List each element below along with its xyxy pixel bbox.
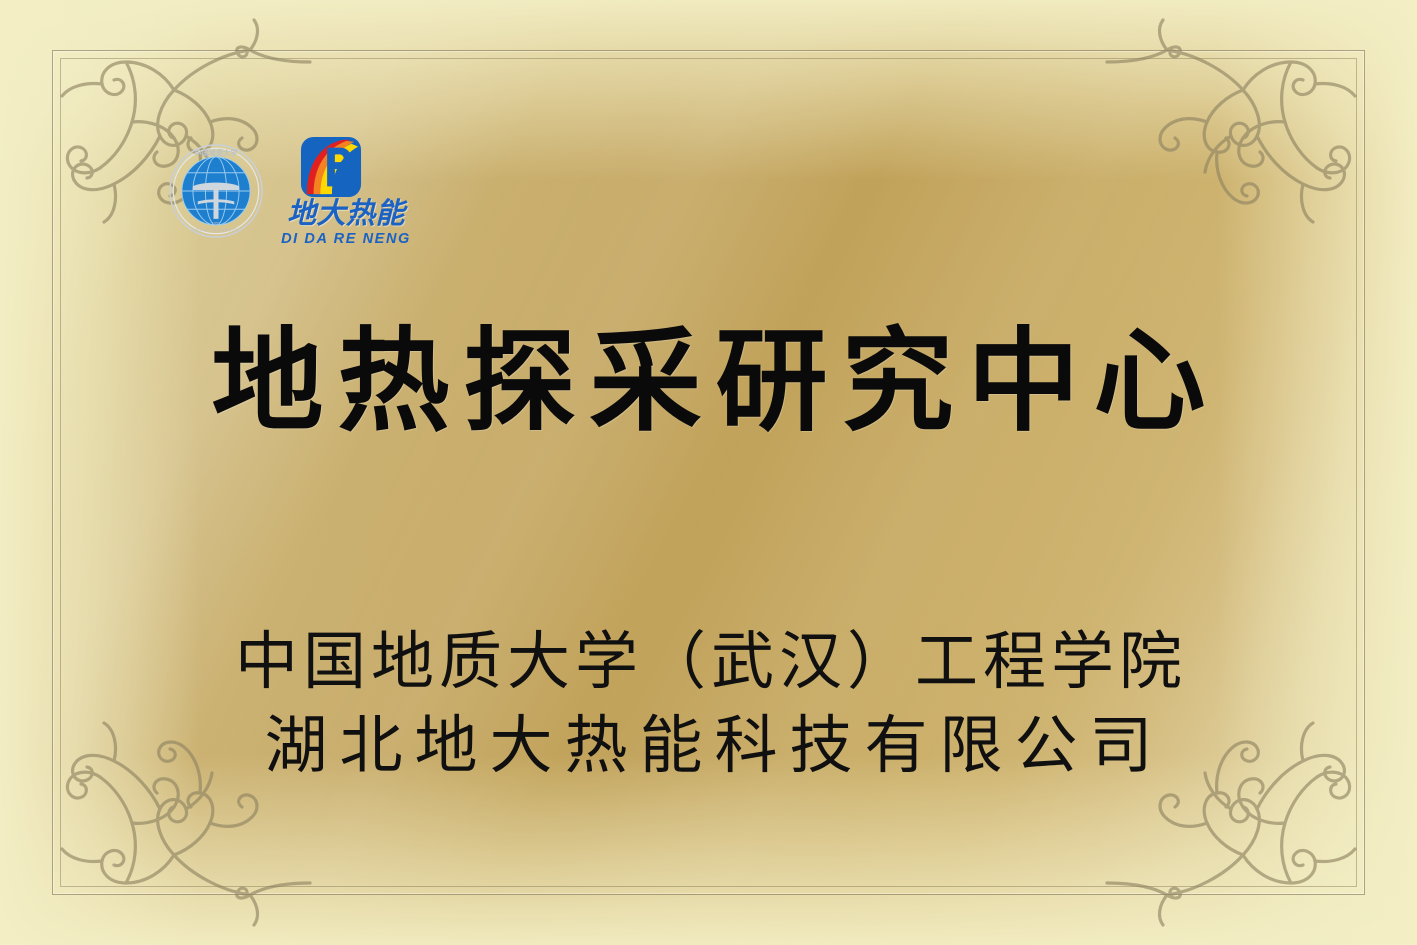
- subtitle-line-2: 湖北地大热能科技有限公司: [0, 704, 1417, 788]
- company-name-cn: 地大热能: [287, 200, 405, 229]
- plaque-subtitle: 中国地质大学（武汉）工程学院 湖北地大热能科技有限公司: [0, 620, 1417, 788]
- logo-row: 中国地质大学 CHINA UNIVERSITY 1952 地大热能 DI DA …: [168, 136, 414, 247]
- company-name-en: DI DA RE NENG: [281, 232, 411, 247]
- corner-ornament-top-right: [1103, 4, 1403, 224]
- company-logo: 地大热能 DI DA RE NENG: [278, 136, 414, 247]
- svg-text:CHINA UNIVERSITY: CHINA UNIVERSITY: [192, 228, 239, 233]
- university-seal-logo: 中国地质大学 CHINA UNIVERSITY 1952: [168, 143, 264, 239]
- award-plaque: 中国地质大学 CHINA UNIVERSITY 1952 地大热能 DI DA …: [0, 0, 1417, 945]
- plaque-title: 地热探采研究中心: [0, 326, 1417, 438]
- subtitle-line-1: 中国地质大学（武汉）工程学院: [0, 620, 1417, 704]
- company-logo-mark: [300, 136, 362, 198]
- svg-text:中国地质大学: 中国地质大学: [194, 149, 237, 158]
- svg-text:1952: 1952: [212, 222, 221, 226]
